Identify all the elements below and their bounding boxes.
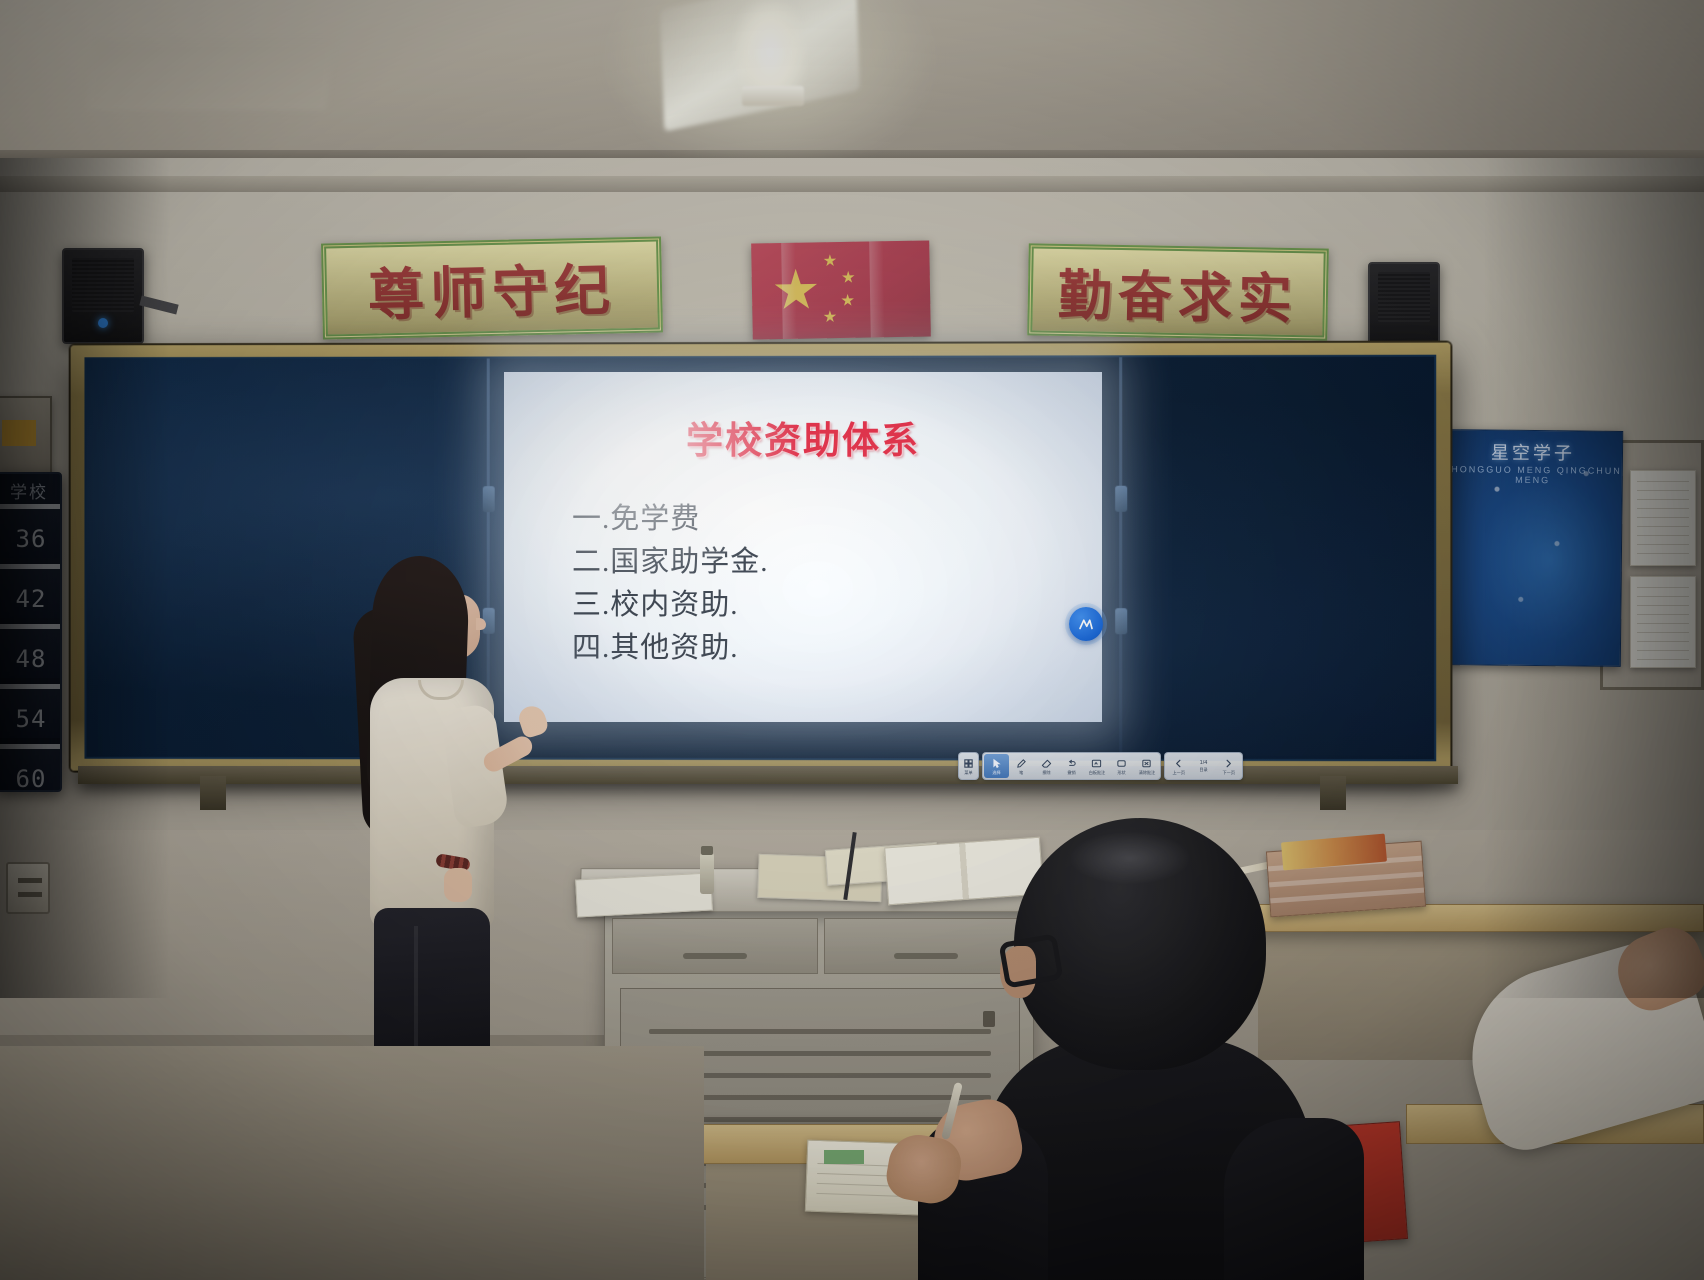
wall-rail (0, 176, 1704, 192)
toolbar-select-button[interactable]: 选择 (984, 754, 1009, 778)
toolbar-group-menu[interactable]: 菜单 (958, 752, 979, 780)
paper-stack (575, 872, 713, 917)
toolbar-pen-button[interactable]: 笔 (1009, 754, 1034, 778)
teacher-hand-lower (444, 868, 472, 902)
board-chalk-ledge (78, 766, 1458, 784)
drawer-handle (894, 953, 958, 959)
board-panel-seam-right (1119, 357, 1122, 758)
annotate-fab[interactable] (1069, 607, 1103, 641)
china-flag (751, 240, 931, 339)
student-hair-highlight (1070, 832, 1190, 884)
page-number: 1/4 (1200, 760, 1208, 766)
toolbar-prev-page-button[interactable]: 上一页 (1166, 754, 1191, 778)
chevron-left-icon (1173, 758, 1184, 769)
board-hinge (1115, 608, 1127, 634)
toolbar-eraser-button[interactable]: 擦除 (1034, 754, 1059, 778)
wall-shadow-left (0, 158, 170, 998)
toolbar-screenshot-button[interactable]: 白板批注 (1084, 754, 1109, 778)
speaker-right (1368, 262, 1440, 354)
speaker-mesh (1378, 272, 1430, 322)
slide-bullet-item: 二.国家助学金. (572, 541, 1076, 584)
board-mount-bracket (200, 776, 226, 810)
toolbar-menu-button[interactable]: 菜单 (960, 754, 977, 778)
toolbar-shape-label: 形状 (1117, 770, 1125, 775)
toolbar-undo-button[interactable]: 撤销 (1059, 754, 1084, 778)
toolbar-pen-label: 笔 (1019, 770, 1023, 775)
banner-right-text: 勤奋求实 (1057, 250, 1298, 333)
board-hinge (1115, 486, 1127, 512)
screenshot-icon (1091, 758, 1102, 769)
toolbar-select-label: 选择 (992, 770, 1000, 775)
shape-icon (1116, 758, 1127, 769)
presentation-slide: 学校资助体系 一.免学费 二.国家助学金. 三.校内资助. 四.其他资助. (504, 372, 1102, 722)
toolbar-group-tools[interactable]: 选择 笔 擦除 撤销 (982, 752, 1161, 780)
toolbar-prev-label: 上一页 (1172, 770, 1184, 775)
toolbar-undo-label: 撤销 (1067, 770, 1075, 775)
slide-bullet-item: 四.其他资助. (572, 627, 1076, 670)
notebook-tab (824, 1150, 864, 1164)
teacher-nose (476, 618, 486, 630)
undo-icon (1066, 758, 1077, 769)
toolbar-shape-button[interactable]: 形状 (1109, 754, 1134, 778)
board-hinge (483, 486, 495, 512)
slide-title: 学校资助体系 (530, 410, 1076, 464)
bottle (700, 852, 714, 894)
slide-bullet-item: 一.免学费 (572, 498, 1076, 541)
podium-drawer-left[interactable] (612, 918, 818, 974)
toolbar-clear-button[interactable]: 清除批注 (1134, 754, 1159, 778)
grid-icon (963, 758, 974, 769)
classroom-photo: 尊师守纪 勤奋求实 学校 36 42 48 54 (0, 0, 1704, 1280)
whiteboard-toolbar[interactable]: 菜单 选择 笔 擦除 (958, 752, 1198, 780)
toolbar-clear-label: 清除批注 (1138, 770, 1155, 775)
classroom-floor (0, 1046, 704, 1280)
toolbar-next-label: 下一页 (1222, 770, 1234, 775)
bottle-cap (701, 846, 713, 855)
wall-shadow-right (1484, 158, 1704, 998)
student-figure (992, 818, 1322, 1280)
toolbar-group-pager[interactable]: 上一页 1/4 目录 下一页 (1164, 752, 1243, 780)
drawer-handle (683, 953, 747, 959)
eraser-icon (1041, 758, 1052, 769)
toolbar-page-label: 目录 (1199, 767, 1207, 772)
clear-icon (1141, 758, 1152, 769)
wall-banner-right: 勤奋求实 (1027, 243, 1329, 340)
cabinet-vent (649, 1029, 991, 1034)
student-shoulder (1224, 1118, 1364, 1280)
flag-haze (751, 240, 931, 339)
toolbar-page-indicator[interactable]: 1/4 目录 (1191, 754, 1216, 778)
board-mount-bracket (1320, 776, 1346, 810)
banner-left-text: 尊师守纪 (367, 245, 617, 331)
projected-screen[interactable]: 学校资助体系 一.免学费 二.国家助学金. 三.校内资助. 四.其他资助. (504, 372, 1102, 722)
light-tube (742, 86, 804, 106)
pen-icon (1077, 615, 1095, 633)
chevron-right-icon (1223, 758, 1234, 769)
toolbar-screenshot-label: 白板批注 (1088, 770, 1105, 775)
wall-banner-left: 尊师守纪 (321, 236, 663, 339)
toolbar-menu-label: 菜单 (964, 770, 972, 775)
slide-bullet-list: 一.免学费 二.国家助学金. 三.校内资助. 四.其他资助. (572, 498, 1076, 670)
slide-bullet-item: 三.校内资助. (572, 584, 1076, 627)
ceiling-patch (86, 40, 333, 110)
cursor-icon (991, 758, 1002, 769)
toolbar-eraser-label: 擦除 (1042, 770, 1050, 775)
pen-icon (1016, 758, 1027, 769)
toolbar-next-page-button[interactable]: 下一页 (1216, 754, 1241, 778)
